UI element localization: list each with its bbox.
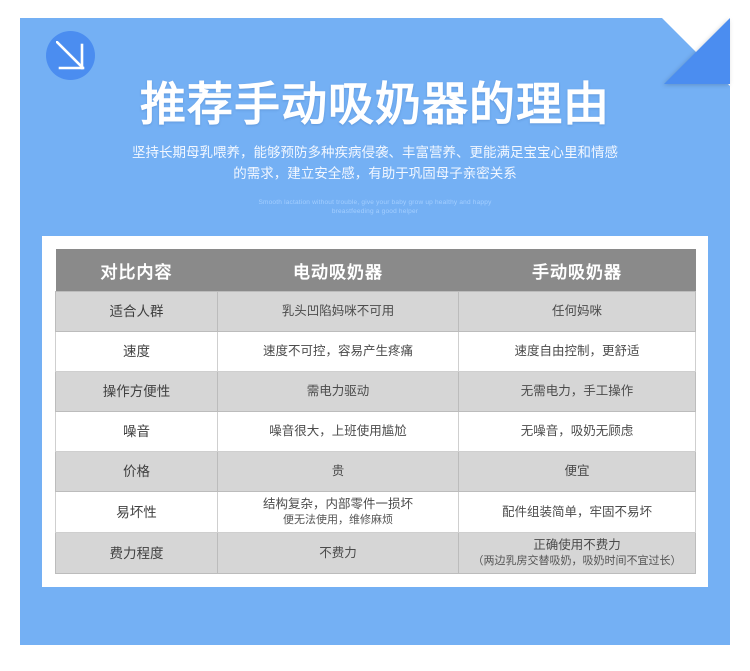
- cell-manual-main: 配件组装简单，牢固不易坏: [465, 504, 689, 521]
- cell-topic: 噪音: [56, 412, 218, 452]
- column-header-topic: 对比内容: [56, 249, 218, 292]
- table-row: 速度速度不可控，容易产生疼痛速度自由控制，更舒适: [56, 332, 696, 372]
- cell-topic: 费力程度: [56, 533, 218, 574]
- column-header-electric: 电动吸奶器: [218, 249, 459, 292]
- cell-topic-main: 价格: [62, 463, 211, 480]
- column-header-manual: 手动吸奶器: [459, 249, 696, 292]
- cell-manual-main: 任何妈咪: [465, 303, 689, 320]
- cell-manual-main: 无噪音，吸奶无顾虑: [465, 423, 689, 440]
- hero-subtitle-en-line-1: Smooth lactation without trouble, give y…: [20, 198, 730, 207]
- cell-manual: 便宜: [459, 452, 696, 492]
- table-row: 易坏性结构复杂，内部零件一损坏便无法使用，维修麻烦配件组装简单，牢固不易坏: [56, 492, 696, 533]
- cell-electric: 贵: [218, 452, 459, 492]
- promo-banner-panel: 推荐手动吸奶器的理由 坚持长期母乳喂养，能够预防多种疾病侵袭、丰富营养、更能满足…: [20, 18, 730, 645]
- table-body: 适合人群乳头凹陷妈咪不可用任何妈咪速度速度不可控，容易产生疼痛速度自由控制，更舒…: [56, 292, 696, 574]
- arrow-down-right-icon: [56, 41, 85, 70]
- cell-topic-main: 速度: [62, 343, 211, 360]
- cell-electric-main: 噪音很大，上班使用尴尬: [224, 423, 452, 440]
- cell-manual: 无噪音，吸奶无顾虑: [459, 412, 696, 452]
- cell-electric: 需电力驱动: [218, 372, 459, 412]
- cell-electric: 结构复杂，内部零件一损坏便无法使用，维修麻烦: [218, 492, 459, 533]
- cell-electric-main: 不费力: [224, 545, 452, 562]
- hero-subtitle: 坚持长期母乳喂养，能够预防多种疾病侵袭、丰富营养、更能满足宝宝心里和情感 的需求…: [20, 142, 730, 184]
- table-row: 适合人群乳头凹陷妈咪不可用任何妈咪: [56, 292, 696, 332]
- cell-manual-main: 无需电力，手工操作: [465, 383, 689, 400]
- cell-manual: 正确使用不费力（两边乳房交替吸奶，吸奶时间不宜过长）: [459, 533, 696, 574]
- cell-topic: 价格: [56, 452, 218, 492]
- table-row: 操作方便性需电力驱动无需电力，手工操作: [56, 372, 696, 412]
- table-header: 对比内容 电动吸奶器 手动吸奶器: [56, 249, 696, 292]
- cell-electric: 乳头凹陷妈咪不可用: [218, 292, 459, 332]
- cell-manual: 无需电力，手工操作: [459, 372, 696, 412]
- cell-topic: 操作方便性: [56, 372, 218, 412]
- cell-electric-main: 贵: [224, 463, 452, 480]
- cell-manual-main: 速度自由控制，更舒适: [465, 343, 689, 360]
- cell-topic-main: 操作方便性: [62, 383, 211, 400]
- cell-electric: 噪音很大，上班使用尴尬: [218, 412, 459, 452]
- cell-topic-main: 适合人群: [62, 303, 211, 320]
- arrow-badge: [46, 31, 95, 80]
- cell-topic-main: 费力程度: [62, 545, 211, 562]
- table-row: 费力程度不费力正确使用不费力（两边乳房交替吸奶，吸奶时间不宜过长）: [56, 533, 696, 574]
- cell-topic-main: 噪音: [62, 423, 211, 440]
- comparison-table-frame: 对比内容 电动吸奶器 手动吸奶器 适合人群乳头凹陷妈咪不可用任何妈咪速度速度不可…: [42, 236, 708, 587]
- page-title: 推荐手动吸奶器的理由: [20, 76, 730, 132]
- cell-electric-main: 乳头凹陷妈咪不可用: [224, 303, 452, 320]
- cell-electric-main: 需电力驱动: [224, 383, 452, 400]
- table-header-row: 对比内容 电动吸奶器 手动吸奶器: [56, 249, 696, 292]
- cell-electric: 不费力: [218, 533, 459, 574]
- hero-subtitle-english: Smooth lactation without trouble, give y…: [20, 198, 730, 216]
- cell-manual-note: （两边乳房交替吸奶，吸奶时间不宜过长）: [465, 554, 689, 569]
- hero-subtitle-line-2: 的需求，建立安全感，有助于巩固母子亲密关系: [20, 163, 730, 184]
- table-row: 价格贵便宜: [56, 452, 696, 492]
- hero-subtitle-en-line-2: breastfeeding a good helper: [20, 207, 730, 216]
- table-row: 噪音噪音很大，上班使用尴尬无噪音，吸奶无顾虑: [56, 412, 696, 452]
- cell-topic: 易坏性: [56, 492, 218, 533]
- cell-manual-main: 便宜: [465, 463, 689, 480]
- folded-corner-icon: [664, 18, 730, 84]
- cell-electric: 速度不可控，容易产生疼痛: [218, 332, 459, 372]
- cell-electric-main: 结构复杂，内部零件一损坏: [224, 496, 452, 513]
- cell-manual: 速度自由控制，更舒适: [459, 332, 696, 372]
- cell-topic-main: 易坏性: [62, 504, 211, 521]
- hero-text-block: 推荐手动吸奶器的理由 坚持长期母乳喂养，能够预防多种疾病侵袭、丰富营养、更能满足…: [20, 18, 730, 216]
- comparison-table: 对比内容 电动吸奶器 手动吸奶器 适合人群乳头凹陷妈咪不可用任何妈咪速度速度不可…: [55, 249, 696, 574]
- cell-topic: 适合人群: [56, 292, 218, 332]
- cell-electric-main: 速度不可控，容易产生疼痛: [224, 343, 452, 360]
- cell-electric-note: 便无法使用，维修麻烦: [224, 513, 452, 528]
- cell-manual: 配件组装简单，牢固不易坏: [459, 492, 696, 533]
- cell-manual-main: 正确使用不费力: [465, 537, 689, 554]
- cell-manual: 任何妈咪: [459, 292, 696, 332]
- cell-topic: 速度: [56, 332, 218, 372]
- hero-subtitle-line-1: 坚持长期母乳喂养，能够预防多种疾病侵袭、丰富营养、更能满足宝宝心里和情感: [20, 142, 730, 163]
